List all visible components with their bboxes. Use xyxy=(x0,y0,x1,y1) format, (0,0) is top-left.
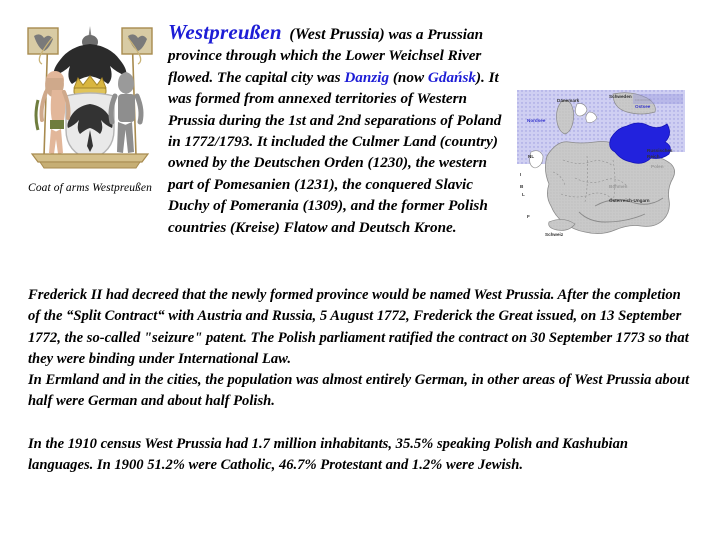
intro-paragraph: Westpreußen (West Prussia) was a Prussia… xyxy=(168,22,516,238)
map-label-oesterreich-ungarn: Österreich-Ungarn xyxy=(609,197,650,203)
map-label-ostsee: Ostsee xyxy=(635,104,651,109)
intro-line-10: of Pomerania (1309), and the former Poli… xyxy=(213,197,488,214)
map-label-russisches-reich-2: Reich xyxy=(647,154,660,159)
map-label-nl: NL xyxy=(528,154,534,159)
map-label-b: I xyxy=(520,172,521,177)
page-root: Coat of arms Westpreußen Westpreußen (We… xyxy=(0,0,720,540)
map-german-empire-image: Nordsee Dänemark Schweden Ostsee NL I B … xyxy=(517,90,685,246)
intro-line-11: countries (Kreise) Flatow and Deutsch Kr… xyxy=(168,219,457,236)
paragraph-1: Frederick II had decreed that the newly … xyxy=(28,285,692,370)
map-label-f: F xyxy=(527,214,530,219)
map-label-schweden: Schweden xyxy=(609,94,632,99)
paragraph-3-line-1: In the 1910 census West Prussia had 1.7 … xyxy=(28,436,559,452)
intro-city-between: (now xyxy=(393,69,424,86)
map-label-daenemark: Dänemark xyxy=(557,98,580,103)
map-label-l: L xyxy=(522,192,525,197)
paragraph-2-line-1: In Ermland and in the cities, the popula… xyxy=(28,372,602,388)
coat-of-arms-block: Coat of arms Westpreußen xyxy=(14,16,166,195)
coat-of-arms-image xyxy=(14,16,166,176)
link-danzig[interactable]: Danzig xyxy=(344,69,389,86)
paragraph-2: In Ermland and in the cities, the popula… xyxy=(28,370,692,413)
page-subtitle: (West Prussia) xyxy=(289,26,384,43)
map-label-boehmen: Böhmen xyxy=(609,184,628,189)
link-gdansk[interactable]: Gdańsk xyxy=(428,69,476,86)
paragraph-3: In the 1910 census West Prussia had 1.7 … xyxy=(28,434,692,477)
map-label-schweiz: Schweiz xyxy=(545,232,564,237)
paragraph-1-line-1: Frederick II had decreed that the newly … xyxy=(28,287,611,303)
body-text-block: Frederick II had decreed that the newly … xyxy=(28,285,692,476)
map-block: Nordsee Dänemark Schweden Ostsee NL I B … xyxy=(517,90,685,246)
map-label-polen: Polen xyxy=(651,164,664,169)
coat-of-arms-caption: Coat of arms Westpreußen xyxy=(14,182,166,195)
svg-text:••••••••••••: •••••••••••• xyxy=(635,97,652,102)
map-label-russisches-reich: Russisches xyxy=(647,148,673,153)
intro-line-1: was a xyxy=(388,26,423,43)
page-title: Westpreußen xyxy=(168,20,282,44)
map-label-nordsee: Nordsee xyxy=(527,118,546,123)
map-watermark: •••••••••••• xyxy=(633,94,683,104)
